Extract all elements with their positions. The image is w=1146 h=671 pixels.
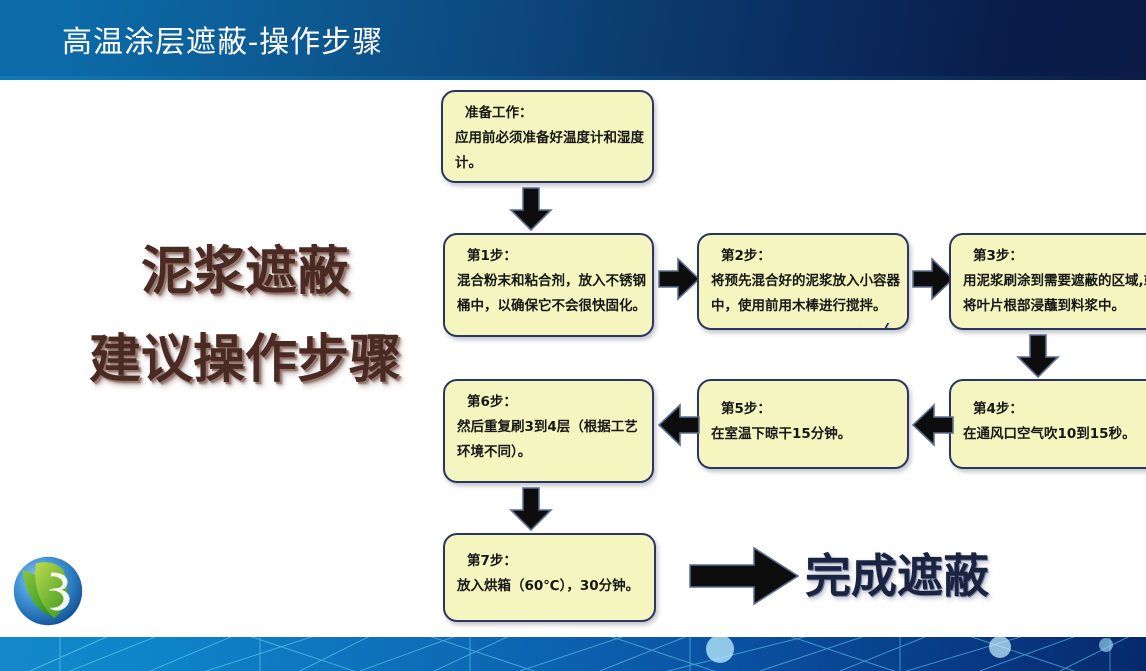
flow-box-step2-body: 第2步： 将预先混合好的泥浆放入小容器 中，使用前用木棒进行搅拌。 (699, 235, 907, 319)
flow-box-step6-title: 第6步： (457, 390, 643, 415)
flow-box-step7-title: 第7步： (457, 549, 645, 574)
flow-box-step6-line-2: 环境不同）。 (457, 440, 643, 465)
flow-box-step5-line-1: 在室温下晾干15分钟。 (711, 422, 898, 447)
flow-box-prep[interactable]: 准备工作： 应用前必须准备好温度计和湿度 计。 (441, 90, 654, 183)
flow-box-step5[interactable]: 第5步： 在室温下晾干15分钟。 (697, 379, 909, 469)
flow-box-step7-line-1: 放入烘箱（60℃），30分钟。 (457, 574, 645, 599)
flow-box-step2-title: 第2步： (711, 244, 898, 269)
flow-box-step2-line-1: 将预先混合好的泥浆放入小容器 (711, 269, 898, 294)
flow-box-prep-line-2: 计。 (455, 151, 643, 176)
flow-box-step2[interactable]: 第2步： 将预先混合好的泥浆放入小容器 中，使用前用木棒进行搅拌。 (697, 233, 909, 330)
flow-box-step5-title: 第5步： (711, 397, 898, 422)
flow-box-step4[interactable]: 第4步： 在通风口空气吹10到15秒。 (949, 379, 1146, 469)
arrow-right-to-completion (688, 545, 800, 607)
header-accent-line (0, 76, 1146, 80)
completion-label: 完成遮蔽 (805, 540, 989, 606)
arrow-right-step1-to-step2 (657, 256, 701, 302)
arrow-left-step5-to-step6 (657, 402, 701, 448)
flow-box-step1[interactable]: 第1步： 混合粉末和粘合剂，放入不锈钢 桶中，以确保它不会很快固化。 (443, 233, 654, 337)
slide-canvas: 高温涂层遮蔽-操作步骤 泥浆遮蔽 建议操作步骤 准备工作： 应用前必须准备好温度… (0, 0, 1146, 671)
flow-box-step6-line-1: 然后重复刷3到4层（根据工艺 (457, 415, 643, 440)
globe-leaf-icon (10, 553, 86, 629)
flow-box-prep-title: 准备工作： (455, 101, 643, 126)
page-title: 高温涂层遮蔽-操作步骤 (62, 17, 383, 61)
flow-box-step3-body: 第3步： 用泥浆刷涂到需要遮蔽的区域,或 将叶片根部浸蘸到料浆中。 (951, 235, 1146, 319)
arrow-down-step3-to-step4 (1016, 333, 1060, 379)
flow-box-step3-title: 第3步： (963, 244, 1146, 269)
flow-box-prep-body: 准备工作： 应用前必须准备好温度计和湿度 计。 (443, 92, 652, 176)
network-lines-decoration (0, 637, 1146, 671)
flow-box-step6-body: 第6步： 然后重复刷3到4层（根据工艺 环境不同）。 (445, 381, 652, 465)
flow-box-step4-line-1: 在通风口空气吹10到15秒。 (963, 422, 1146, 447)
arrow-left-step4-to-step5 (911, 402, 955, 448)
flow-box-prep-line-1: 应用前必须准备好温度计和湿度 (455, 126, 643, 151)
flow-box-step4-title: 第4步： (963, 397, 1146, 422)
flow-box-step7[interactable]: 第7步： 放入烘箱（60℃），30分钟。 (443, 533, 656, 622)
flow-box-step1-line-2: 桶中，以确保它不会很快固化。 (457, 294, 643, 319)
left-heading-line2: 建议操作步骤 (55, 316, 435, 404)
arrow-down-prep-to-step1 (509, 186, 553, 232)
footer-band (0, 637, 1146, 671)
flow-box-step5-body: 第5步： 在室温下晾干15分钟。 (699, 381, 907, 447)
flow-box-step3[interactable]: 第3步： 用泥浆刷涂到需要遮蔽的区域,或 将叶片根部浸蘸到料浆中。 (949, 233, 1146, 330)
flow-box-step1-body: 第1步： 混合粉末和粘合剂，放入不锈钢 桶中，以确保它不会很快固化。 (445, 235, 652, 319)
flow-box-step1-title: 第1步： (457, 244, 643, 269)
flow-box-step1-line-1: 混合粉末和粘合剂，放入不锈钢 (457, 269, 643, 294)
flow-box-step4-body: 第4步： 在通风口空气吹10到15秒。 (951, 381, 1146, 447)
flow-box-step2-line-2: 中，使用前用木棒进行搅拌。 (711, 294, 898, 319)
left-heading: 泥浆遮蔽 建议操作步骤 (55, 228, 435, 404)
company-logo (10, 553, 86, 629)
left-heading-line1: 泥浆遮蔽 (55, 228, 435, 316)
arrow-down-step6-to-step7 (509, 486, 553, 532)
flow-box-step3-line-1: 用泥浆刷涂到需要遮蔽的区域,或 (963, 269, 1146, 294)
flow-box-step6[interactable]: 第6步： 然后重复刷3到4层（根据工艺 环境不同）。 (443, 379, 654, 483)
callout-tail (853, 323, 890, 330)
flow-box-step7-body: 第7步： 放入烘箱（60℃），30分钟。 (445, 535, 654, 599)
flow-box-step3-line-2: 将叶片根部浸蘸到料浆中。 (963, 294, 1146, 319)
